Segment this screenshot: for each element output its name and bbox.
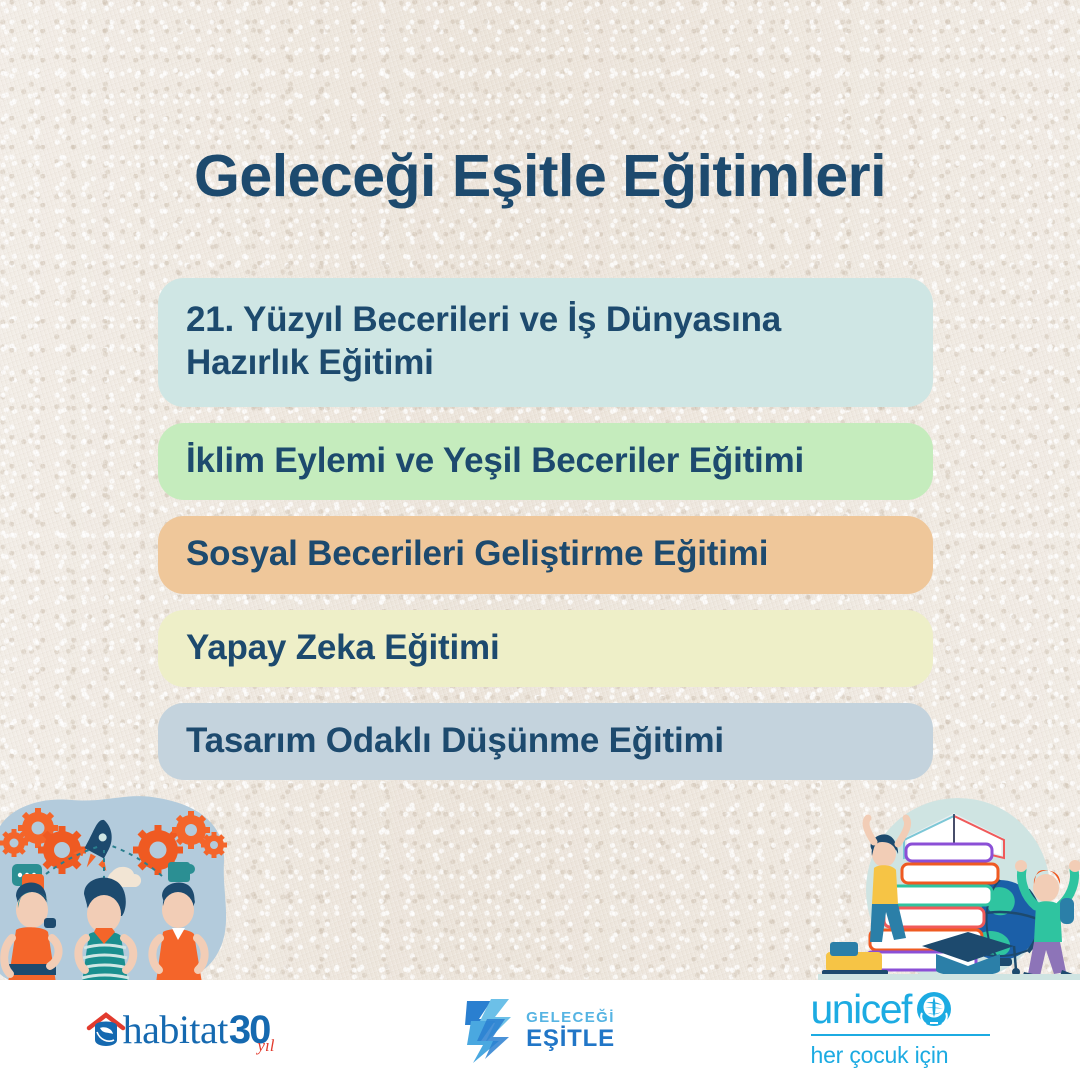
logo-slot-gelecegi-esitle: GELECEĞİ EŞİTLE <box>360 997 720 1063</box>
training-item-4-label: Yapay Zeka Eğitimi <box>186 626 905 669</box>
training-item-1-line1: 21. Yüzyıl Becerileri ve İş Dünyasına <box>186 298 905 341</box>
unicef-emblem-icon <box>916 991 952 1027</box>
illustration-books-globe <box>818 786 1080 982</box>
training-item-5[interactable]: Tasarım Odaklı Düşünme Eğitimi <box>158 703 933 780</box>
training-item-5-label: Tasarım Odaklı Düşünme Eğitimi <box>186 719 905 762</box>
habitat-house-globe-icon <box>86 1010 126 1052</box>
gelecegi-esitle-line2: EŞİTLE <box>526 1027 615 1051</box>
training-item-2-label: İklim Eylemi ve Yeşil Beceriler Eğitimi <box>186 439 905 482</box>
habitat-wordmark: habitat <box>123 1010 228 1050</box>
training-item-3-label: Sosyal Becerileri Geliştirme Eğitimi <box>186 532 905 575</box>
habitat-logo[interactable]: habitat 30 yıl <box>86 1010 275 1050</box>
illustration-teamwork-gears <box>0 788 251 983</box>
unicef-wordmark: unicef <box>811 991 911 1028</box>
page-title: Geleceği Eşitle Eğitimleri <box>0 142 1080 210</box>
training-item-4[interactable]: Yapay Zeka Eğitimi <box>158 610 933 687</box>
habitat-anniversary-suffix: yıl <box>257 1036 274 1056</box>
poster-canvas: Geleceği Eşitle Eğitimleri 21. Yüzyıl Be… <box>0 0 1080 1080</box>
logo-slot-unicef: unicef her çocuk için <box>720 991 1080 1070</box>
training-item-3[interactable]: Sosyal Becerileri Geliştirme Eğitimi <box>158 516 933 593</box>
gelecegi-esitle-line1: GELECEĞİ <box>526 1010 615 1025</box>
unicef-divider <box>811 1034 990 1036</box>
training-item-1[interactable]: 21. Yüzyıl Becerileri ve İş Dünyasına Ha… <box>158 278 933 407</box>
training-list: 21. Yüzyıl Becerileri ve İş Dünyasına Ha… <box>158 278 933 796</box>
training-item-1-line2: Hazırlık Eğitimi <box>186 341 905 384</box>
unicef-tagline: her çocuk için <box>811 1042 990 1069</box>
gelecegi-esitle-arrow-icon <box>465 997 517 1063</box>
training-item-2[interactable]: İklim Eylemi ve Yeşil Beceriler Eğitimi <box>158 423 933 500</box>
footer-logo-bar: habitat 30 yıl GELECEĞİ EŞİTLE <box>0 980 1080 1080</box>
gelecegi-esitle-logo[interactable]: GELECEĞİ EŞİTLE <box>465 997 615 1063</box>
unicef-logo[interactable]: unicef her çocuk için <box>811 991 990 1070</box>
logo-slot-habitat: habitat 30 yıl <box>0 1010 360 1050</box>
